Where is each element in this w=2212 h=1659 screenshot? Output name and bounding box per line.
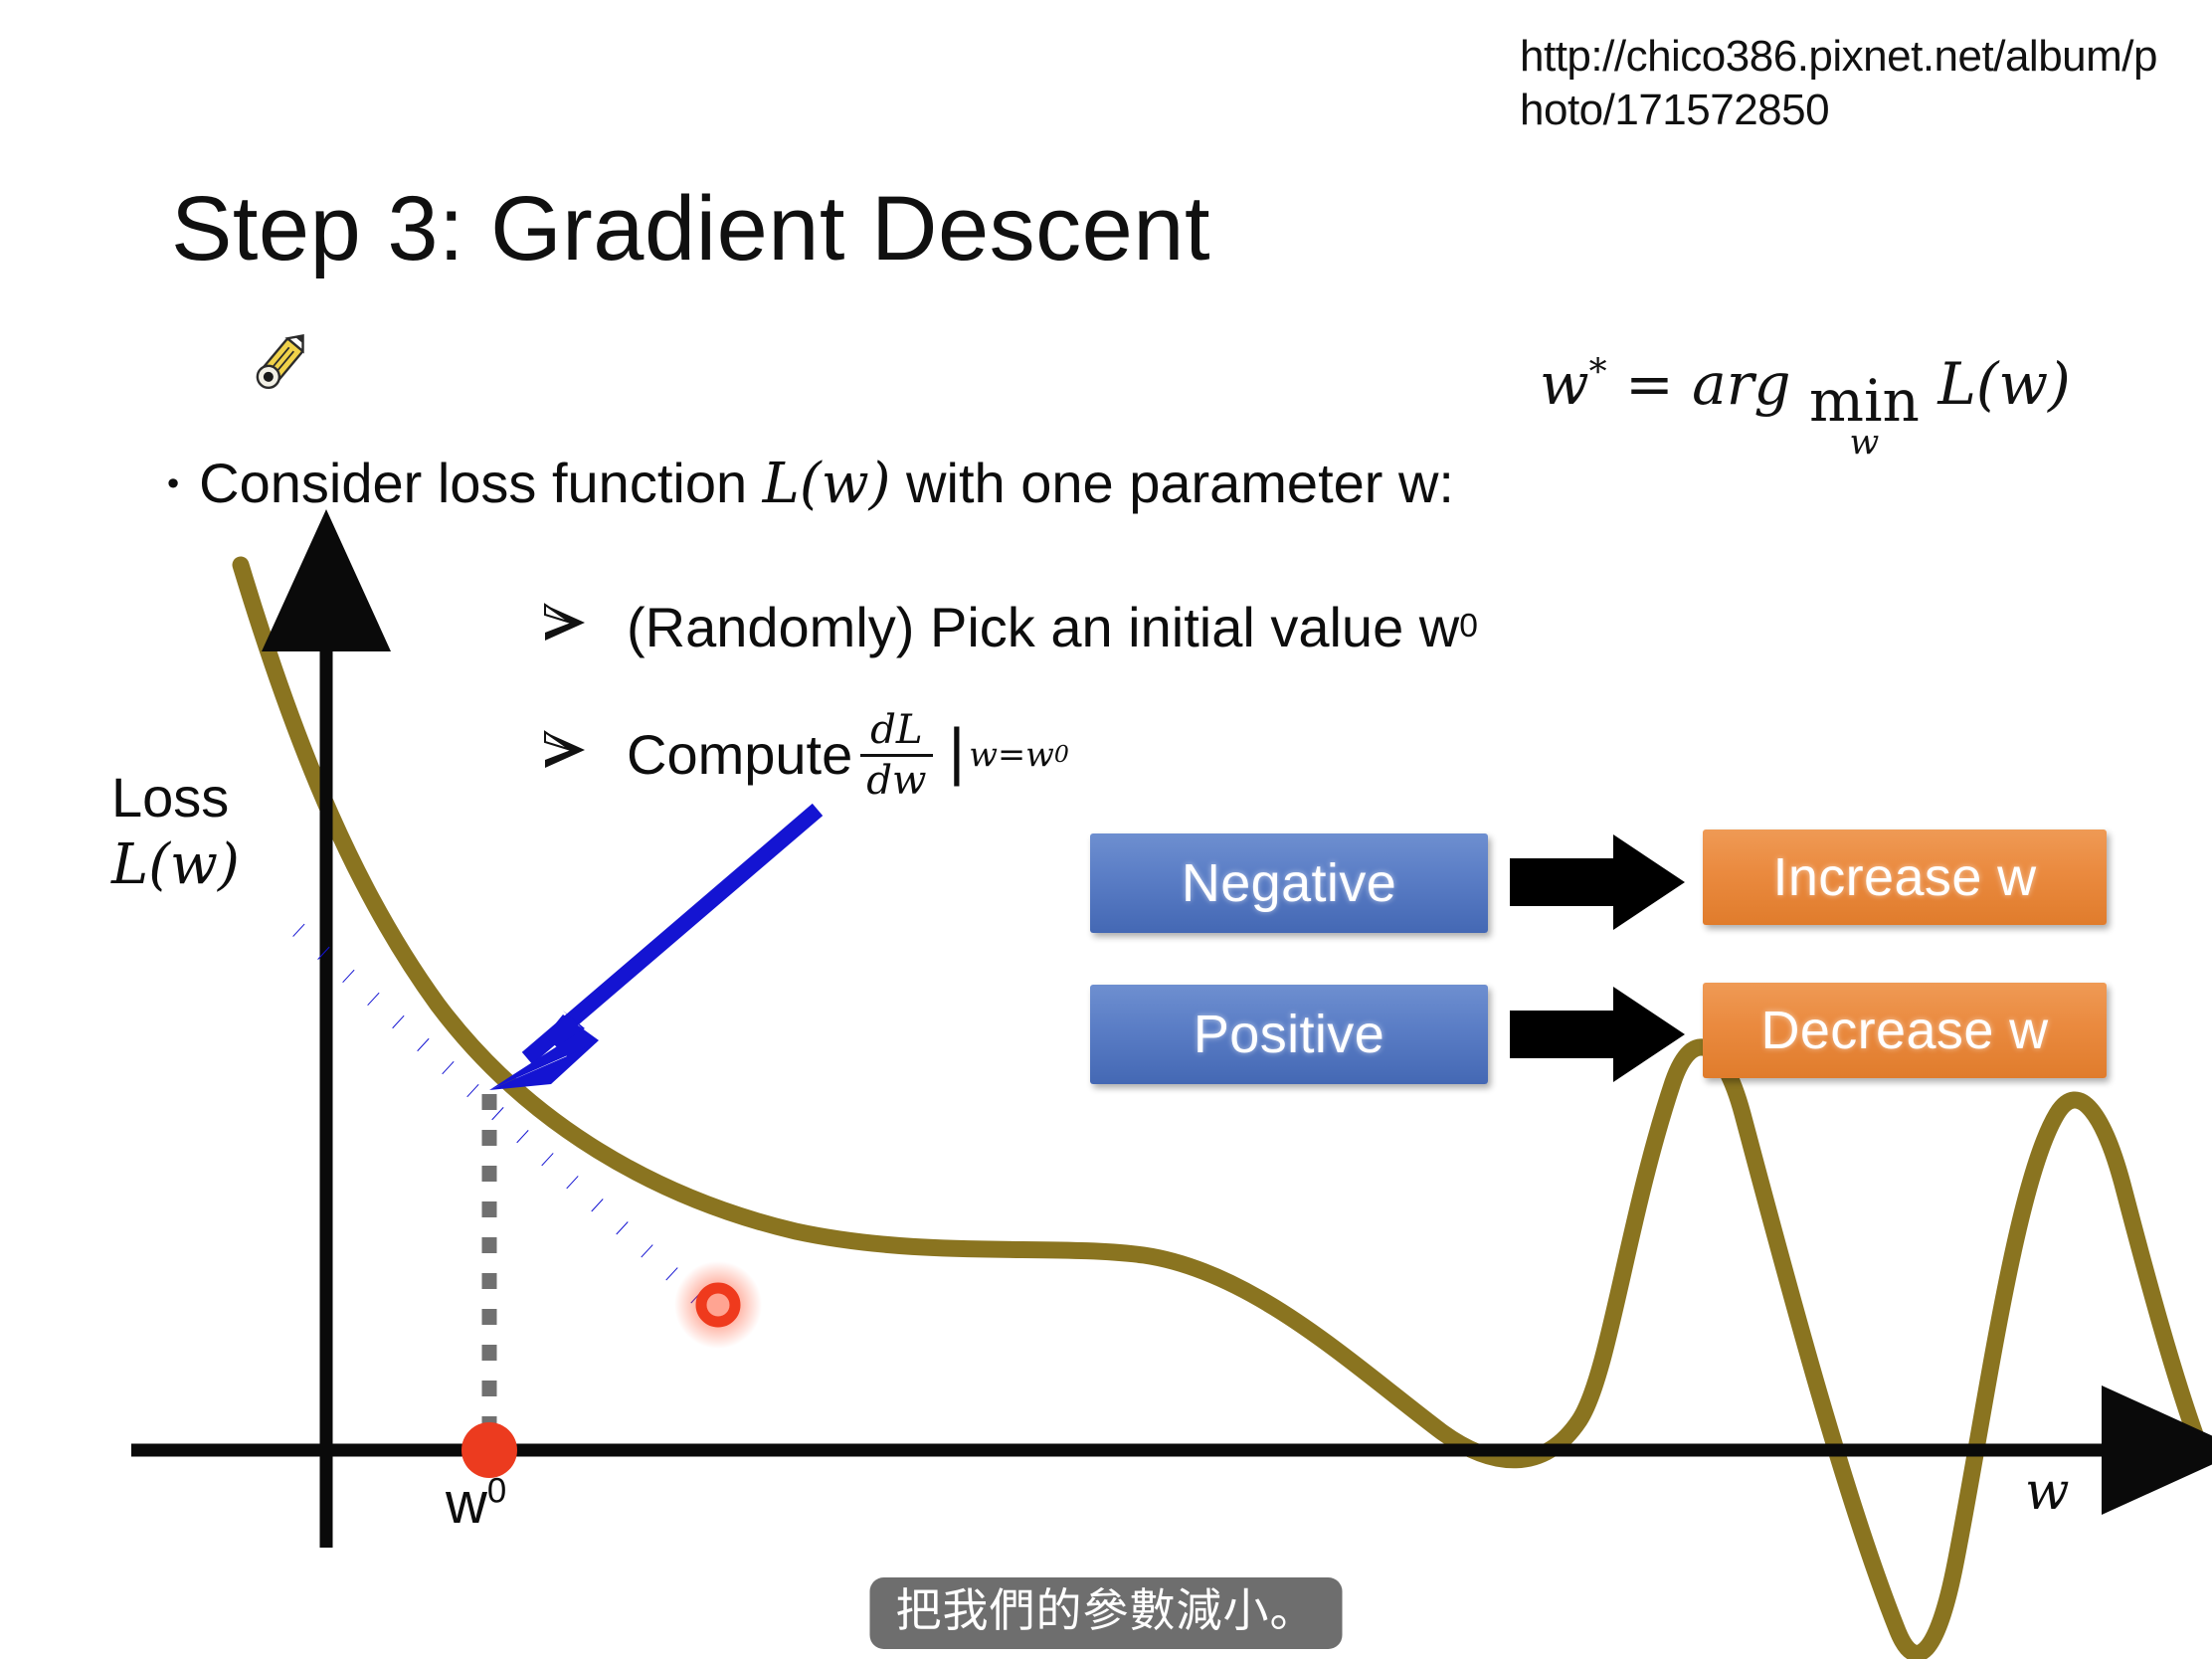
- sub-bullet-compute-gradient: Compute dL dw |w=w0: [537, 708, 1069, 802]
- evaluation-subscript: w=w: [969, 737, 1054, 774]
- loss-curve: [241, 565, 2200, 1653]
- evaluation-superscript: 0: [1054, 742, 1069, 768]
- chevron-right-icon: [537, 722, 591, 788]
- w0-label: w0: [446, 1470, 506, 1537]
- tangent-marker-glow: [674, 1261, 762, 1349]
- y-axis-label: Loss L(w): [111, 766, 240, 898]
- tangent-line: [298, 930, 701, 1301]
- x-axis-label: w: [2025, 1462, 2070, 1522]
- evaluation-bar: |: [949, 716, 966, 787]
- chevron-right-icon: [537, 595, 591, 660]
- sub-bullet-2-label: Compute: [627, 724, 852, 786]
- condition-box-positive-label: Positive: [1194, 1004, 1384, 1065]
- bullet-glyph: •: [167, 464, 179, 502]
- tangent-marker-ring: [701, 1288, 735, 1322]
- sub-bullet-1-text: (Randomly) Pick an initial value w: [627, 597, 1459, 658]
- formula-min: min: [1809, 375, 1920, 428]
- right-arrow-icon: [1510, 830, 1685, 934]
- action-box-decrease-label: Decrease w: [1760, 1000, 2048, 1061]
- condition-box-negative-label: Negative: [1182, 852, 1396, 914]
- sub-bullet-1-superscript: 0: [1459, 609, 1478, 645]
- fraction-numerator: dL: [864, 708, 929, 754]
- action-box-increase-label: Increase w: [1772, 846, 2036, 908]
- y-axis-label-line2: L(w): [111, 833, 240, 897]
- formula-argmin: min w: [1809, 375, 1920, 458]
- action-box-decrease[interactable]: Decrease w: [1703, 983, 2107, 1078]
- derivative-fraction: dL dw: [860, 708, 932, 802]
- fraction-denominator: dw: [860, 754, 932, 803]
- y-axis-label-line1: Loss: [111, 766, 229, 829]
- main-bullet: •Consider loss function L(w) with one pa…: [167, 450, 1454, 517]
- action-box-increase[interactable]: Increase w: [1703, 829, 2107, 925]
- formula-star: *: [1589, 352, 1607, 393]
- right-arrow-icon: [1510, 983, 1685, 1086]
- objective-formula: w* = arg min w L(w): [1540, 350, 2071, 459]
- sub-bullet-pick-initial: (Randomly) Pick an initial value w0: [537, 595, 1478, 660]
- condition-box-negative[interactable]: Negative: [1090, 833, 1488, 933]
- formula-equals: =: [1625, 350, 1674, 418]
- subtitle-caption: 把我們的參數減小。: [870, 1577, 1343, 1649]
- condition-box-positive[interactable]: Positive: [1090, 985, 1488, 1084]
- pencil-icon: [247, 324, 318, 396]
- gradient-arrow-head-fill: [489, 1011, 597, 1090]
- gradient-arrow-head: [489, 1014, 599, 1090]
- w0-superscript: 0: [487, 1472, 506, 1511]
- main-bullet-math: L(w): [763, 452, 891, 516]
- main-bullet-text-before: Consider loss function: [199, 452, 763, 514]
- formula-w: w: [1540, 350, 1589, 418]
- formula-arg: arg: [1692, 350, 1790, 418]
- formula-loss: L(w): [1937, 350, 2070, 418]
- gradient-arrow-shaft: [527, 810, 818, 1058]
- main-bullet-text-after: with one parameter w:: [891, 452, 1454, 514]
- formula-min-subscript: w: [1850, 427, 1880, 459]
- slide-canvas: http://chico386.pixnet.net/album/photo/1…: [0, 0, 2212, 1659]
- source-url-text: http://chico386.pixnet.net/album/photo/1…: [1520, 30, 2176, 136]
- page-title: Step 3: Gradient Descent: [171, 183, 1210, 275]
